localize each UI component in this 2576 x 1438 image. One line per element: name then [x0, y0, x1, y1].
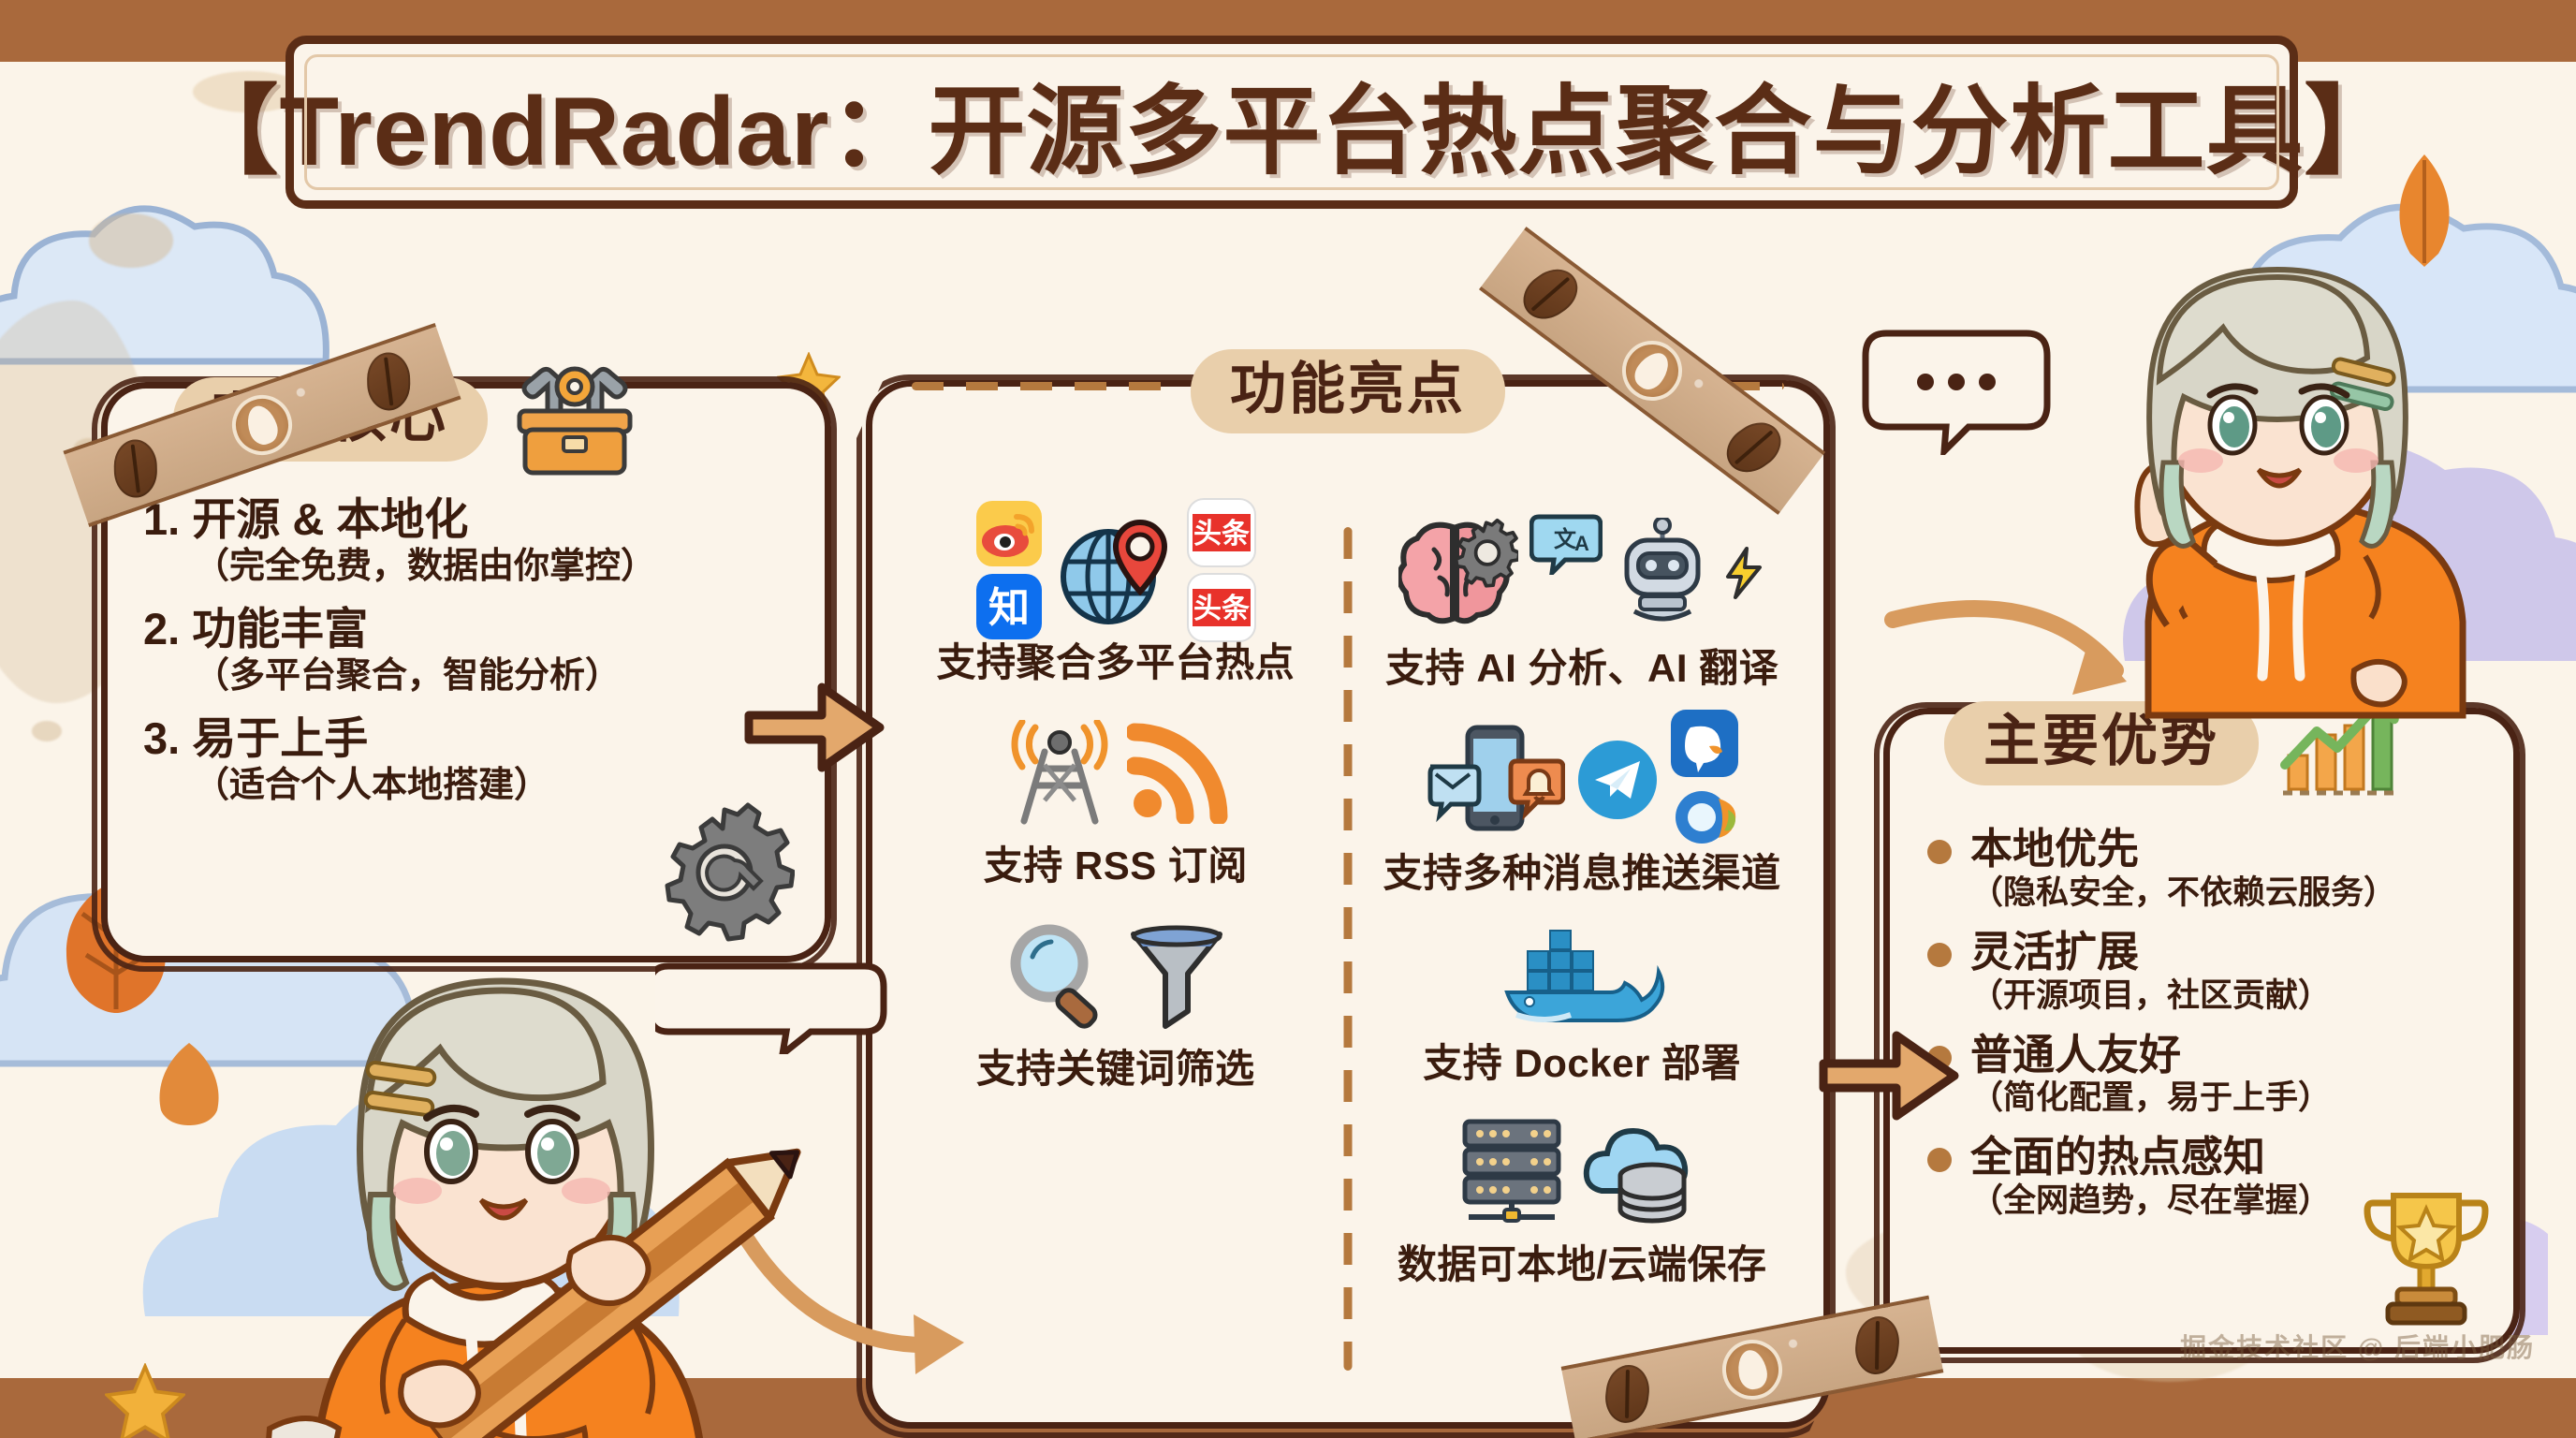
- feature-column-right: 文 A: [1354, 513, 1810, 1318]
- core-item-main: 2. 功能丰富: [143, 603, 806, 654]
- docker-whale-icon: [1498, 929, 1666, 1026]
- feature-item: 数据可本地/云端保存: [1354, 1117, 1810, 1290]
- advantage-sub: （简化配置，易于上手）: [1970, 1078, 2331, 1118]
- advantage-main: 全面的热点感知: [1970, 1133, 2331, 1181]
- feature-icon-group: [1354, 1117, 1810, 1229]
- advantage-sub: （全网趋势，尽在掌握）: [1970, 1181, 2331, 1221]
- svg-text:A: A: [1574, 532, 1589, 555]
- feature-label: 支持 Docker 部署: [1354, 1032, 1810, 1089]
- globe-pin-icon: [1054, 509, 1176, 631]
- coffee-bean-icon: [113, 439, 157, 498]
- bullet-icon: [1927, 943, 1952, 967]
- gear-icon: [654, 802, 795, 943]
- feature-item: 支持关键词筛选: [887, 919, 1344, 1094]
- coffee-bean-icon: [367, 352, 411, 411]
- feature-icon-group: [1354, 927, 1810, 1028]
- core-item: 3. 易于上手 （适合个人本地搭建）: [143, 712, 806, 809]
- bullet-icon: [1927, 1148, 1952, 1172]
- feature-icon-group: 文 A: [1354, 513, 1810, 633]
- toutiao-icon: 头条: [1187, 498, 1256, 567]
- title-banner: 【TrendRadar：开源多平台热点聚合与分析工具】: [285, 36, 2298, 209]
- phone-notify-icon: [1425, 724, 1565, 836]
- core-item: 1. 开源 & 本地化 （完全免费，数据由你掌控）: [143, 493, 806, 590]
- dingtalk-icon: [1670, 709, 1739, 778]
- coffee-bean-icon: [1515, 259, 1587, 328]
- feature-icon-group: [887, 919, 1344, 1034]
- advantage-sub: （隐私安全，不依赖云服务）: [1970, 873, 2396, 913]
- feature-label: 支持聚合多平台热点: [887, 631, 1344, 688]
- feature-icon-group: [887, 716, 1344, 830]
- advantage-item: 本地优先 （隐私安全，不依赖云服务）: [1927, 825, 2495, 913]
- core-item-sub: （完全免费，数据由你掌控）: [143, 545, 806, 590]
- server-rack-icon: [1456, 1118, 1568, 1228]
- broadcast-tower-icon: [1003, 720, 1116, 828]
- cloud-database-icon: [1579, 1118, 1708, 1228]
- robot-icon: [1614, 518, 1711, 628]
- advantage-sub: （开源项目，社区贡献）: [1970, 976, 2331, 1016]
- watermark-text: 掘金技术社区 @ 后端小肥肠: [2180, 1328, 2535, 1365]
- star-icon: [105, 1363, 185, 1438]
- feature-item: 支持多种消息推送渠道: [1354, 722, 1810, 899]
- advantage-main: 灵活扩展: [1970, 928, 2331, 976]
- advantages-item-list: 本地优先 （隐私安全，不依赖云服务） 灵活扩展 （开源项目，社区贡献） 普通人友…: [1927, 825, 2495, 1236]
- advantage-main: 本地优先: [1970, 825, 2396, 873]
- toolbox-icon: [505, 359, 645, 480]
- feature-icon-group: [1354, 722, 1810, 838]
- lightning-icon: [1722, 547, 1765, 599]
- svg-text:头条: 头条: [1193, 594, 1250, 624]
- divider-dashed-vertical: [1344, 527, 1353, 1371]
- telegram-icon: [1576, 739, 1659, 821]
- bullet-icon: [1927, 840, 1952, 864]
- latte-art-icon: [224, 387, 300, 462]
- funnel-icon: [1126, 921, 1227, 1032]
- feature-column-left: 知: [887, 513, 1344, 1123]
- feishu-icon: [1670, 782, 1739, 851]
- mascot-girl-pointing: [2027, 247, 2523, 734]
- brain-icon: [1398, 518, 1518, 628]
- magnifier-icon: [1004, 921, 1115, 1032]
- feature-item: 文 A: [1354, 513, 1810, 694]
- arrow-right-icon: [739, 668, 889, 786]
- features-heading-pill: 功能亮点: [1191, 349, 1505, 433]
- mascot-girl-with-pencil: [204, 942, 878, 1438]
- feature-item: 知: [887, 513, 1344, 688]
- weibo-icon: [975, 500, 1043, 567]
- page-title: 【TrendRadar：开源多平台热点聚合与分析工具】: [182, 51, 2403, 193]
- feature-label: 支持多种消息推送渠道: [1354, 842, 1810, 899]
- feature-label: 支持关键词筛选: [887, 1037, 1344, 1094]
- feature-item: 支持 Docker 部署: [1354, 927, 1810, 1089]
- features-heading-group: 功能亮点: [1191, 349, 1505, 433]
- svg-text:知: 知: [988, 585, 1030, 631]
- panel-main-advantages: 主要优势 本地优先 （隐私安全，: [1883, 708, 2520, 1354]
- advantage-item: 普通人友好 （简化配置，易于上手）: [1927, 1031, 2495, 1119]
- coffee-bean-icon: [1603, 1362, 1652, 1425]
- infographic-poster: 项目核心 1. 开源 & 本地化 （完全免费，数据由你掌控）: [0, 0, 2576, 1438]
- core-item-sub: （多平台聚合，智能分析）: [143, 654, 806, 699]
- speech-bubble-icon: [1858, 324, 2055, 455]
- core-item: 2. 功能丰富 （多平台聚合，智能分析）: [143, 603, 806, 699]
- svg-text:头条: 头条: [1193, 519, 1250, 550]
- rss-icon: [1127, 723, 1228, 824]
- translate-bubble-icon: 文 A: [1529, 513, 1603, 575]
- feature-label: 支持 AI 分析、AI 翻译: [1354, 637, 1810, 694]
- advantage-main: 普通人友好: [1970, 1031, 2331, 1079]
- arrow-right-icon: [1814, 1017, 1964, 1135]
- core-item-list: 1. 开源 & 本地化 （完全免费，数据由你掌控） 2. 功能丰富 （多平台聚合…: [143, 493, 806, 822]
- trophy-icon: [2356, 1186, 2496, 1336]
- feature-label: 支持 RSS 订阅: [887, 834, 1344, 891]
- divider-dashed-left: [912, 382, 1164, 390]
- coffee-bean-icon: [1852, 1313, 1902, 1376]
- coffee-stain: [89, 213, 173, 268]
- latte-art-icon: [1717, 1334, 1787, 1404]
- core-item-main: 3. 易于上手: [143, 712, 806, 764]
- paper-background: 项目核心 1. 开源 & 本地化 （完全免费，数据由你掌控）: [0, 62, 2576, 1378]
- feature-item: 支持 RSS 订阅: [887, 716, 1344, 891]
- feature-icon-group: 知: [887, 513, 1344, 627]
- coffee-bean-icon: [1718, 413, 1790, 481]
- core-item-main: 1. 开源 & 本地化: [143, 493, 806, 545]
- feature-label: 数据可本地/云端保存: [1354, 1233, 1810, 1290]
- advantage-item: 灵活扩展 （开源项目，社区贡献）: [1927, 928, 2495, 1016]
- coffee-stain: [32, 721, 62, 741]
